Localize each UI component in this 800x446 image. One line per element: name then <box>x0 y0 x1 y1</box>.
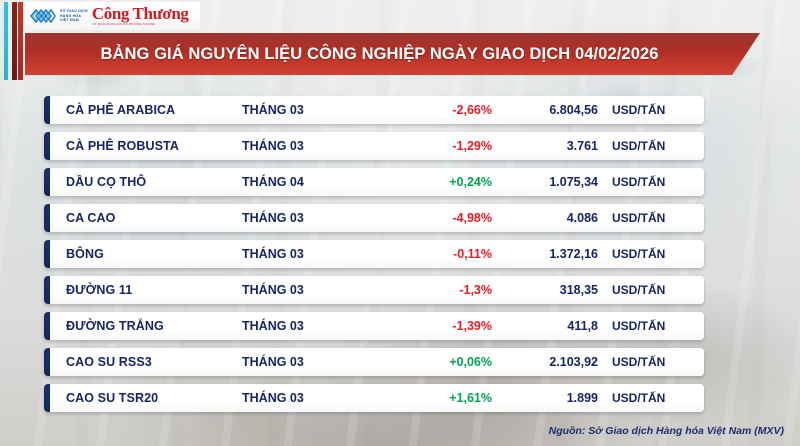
table-row: CAO SU RSS3THÁNG 03+0,06%2.103,92USD/TẤN <box>44 348 704 376</box>
row-accent-bar <box>44 204 50 232</box>
mxv-logo-line3: VIỆT NAM <box>60 18 88 23</box>
mxv-wave-logo-icon <box>29 6 57 26</box>
row-accent-bar <box>44 240 50 268</box>
row-accent-bar <box>44 384 50 412</box>
price-change: -1,3% <box>372 283 492 297</box>
left-edge-cyan-stripe <box>4 2 8 80</box>
price-unit: USD/TẤN <box>612 175 704 189</box>
page-title: BẢNG GIÁ NGUYÊN LIỆU CÔNG NGHIỆP NGÀY GI… <box>100 45 658 64</box>
row-accent-bar <box>44 312 50 340</box>
price-value: 4.086 <box>492 211 612 225</box>
table-row: CÀ PHÊ ROBUSTATHÁNG 03-1,29%3.761USD/TẤN <box>44 132 704 160</box>
row-accent-bar <box>44 168 50 196</box>
title-banner: BẢNG GIÁ NGUYÊN LIỆU CÔNG NGHIỆP NGÀY GI… <box>25 33 760 75</box>
price-change: -0,11% <box>372 247 492 261</box>
commodity-name: CÀ PHÊ ARABICA <box>44 103 242 117</box>
left-edge-red-stripe <box>18 2 23 80</box>
price-unit: USD/TẤN <box>612 355 704 369</box>
contract-month: THÁNG 03 <box>242 391 372 405</box>
price-value: 1.075,34 <box>492 175 612 189</box>
commodity-name: BÔNG <box>44 247 242 261</box>
price-change: -1,29% <box>372 139 492 153</box>
row-accent-bar <box>44 348 50 376</box>
table-row: DẦU CỌ THÔTHÁNG 04+0,24%1.075,34USD/TẤN <box>44 168 704 196</box>
cong-thuong-wordmark: Công Thương <box>92 6 189 22</box>
price-unit: USD/TẤN <box>612 103 704 117</box>
commodity-name: CAO SU TSR20 <box>44 391 242 405</box>
cong-thuong-logo: Công Thương CƠ QUAN NGÔN LUẬN CỦA BỘ CÔN… <box>92 6 189 26</box>
left-edge-dark-red-stripe <box>12 2 17 80</box>
commodity-name: CAO SU RSS3 <box>44 355 242 369</box>
price-unit: USD/TẤN <box>612 283 704 297</box>
price-value: 1.372,16 <box>492 247 612 261</box>
source-attribution: Nguồn: Sở Giao dịch Hàng hóa Việt Nam (M… <box>549 425 784 437</box>
commodity-name: ĐƯỜNG TRẮNG <box>44 319 242 333</box>
price-unit: USD/TẤN <box>612 391 704 405</box>
price-change: +1,61% <box>372 391 492 405</box>
table-row: CA CAOTHÁNG 03-4,98%4.086USD/TẤN <box>44 204 704 232</box>
price-value: 6.804,56 <box>492 103 612 117</box>
contract-month: THÁNG 03 <box>242 319 372 333</box>
contract-month: THÁNG 03 <box>242 247 372 261</box>
price-unit: USD/TẤN <box>612 247 704 261</box>
row-accent-bar <box>44 96 50 124</box>
price-value: 2.103,92 <box>492 355 612 369</box>
price-board-infographic: SỞ GIAO DỊCH HÀNG HÓA VIỆT NAM Công Thươ… <box>0 0 800 446</box>
price-value: 411,8 <box>492 319 612 333</box>
contract-month: THÁNG 04 <box>242 175 372 189</box>
price-value: 1.899 <box>492 391 612 405</box>
price-change: +0,06% <box>372 355 492 369</box>
price-value: 318,35 <box>492 283 612 297</box>
contract-month: THÁNG 03 <box>242 283 372 297</box>
contract-month: THÁNG 03 <box>242 355 372 369</box>
price-change: -1,39% <box>372 319 492 333</box>
price-unit: USD/TẤN <box>612 319 704 333</box>
contract-month: THÁNG 03 <box>242 211 372 225</box>
price-unit: USD/TẤN <box>612 139 704 153</box>
price-change: -4,98% <box>372 211 492 225</box>
price-change: -2,66% <box>372 103 492 117</box>
price-value: 3.761 <box>492 139 612 153</box>
contract-month: THÁNG 03 <box>242 103 372 117</box>
table-row: CÀ PHÊ ARABICATHÁNG 03-2,66%6.804,56USD/… <box>44 96 704 124</box>
row-accent-bar <box>44 276 50 304</box>
logo-strip: SỞ GIAO DỊCH HÀNG HÓA VIỆT NAM Công Thươ… <box>24 2 200 30</box>
cong-thuong-tagline: CƠ QUAN NGÔN LUẬN CỦA BỘ CÔNG THƯƠNG <box>92 23 189 26</box>
mxv-logo-text: SỞ GIAO DỊCH HÀNG HÓA VIỆT NAM <box>60 9 88 23</box>
table-row: BÔNGTHÁNG 03-0,11%1.372,16USD/TẤN <box>44 240 704 268</box>
table-row: ĐƯỜNG TRẮNGTHÁNG 03-1,39%411,8USD/TẤN <box>44 312 704 340</box>
commodity-name: DẦU CỌ THÔ <box>44 175 242 189</box>
commodity-price-table: CÀ PHÊ ARABICATHÁNG 03-2,66%6.804,56USD/… <box>44 96 704 420</box>
row-accent-bar <box>44 132 50 160</box>
table-row: ĐƯỜNG 11THÁNG 03-1,3%318,35USD/TẤN <box>44 276 704 304</box>
price-change: +0,24% <box>372 175 492 189</box>
price-unit: USD/TẤN <box>612 211 704 225</box>
contract-month: THÁNG 03 <box>242 139 372 153</box>
table-row: CAO SU TSR20THÁNG 03+1,61%1.899USD/TẤN <box>44 384 704 412</box>
commodity-name: ĐƯỜNG 11 <box>44 283 242 297</box>
commodity-name: CA CAO <box>44 211 242 225</box>
commodity-name: CÀ PHÊ ROBUSTA <box>44 139 242 153</box>
